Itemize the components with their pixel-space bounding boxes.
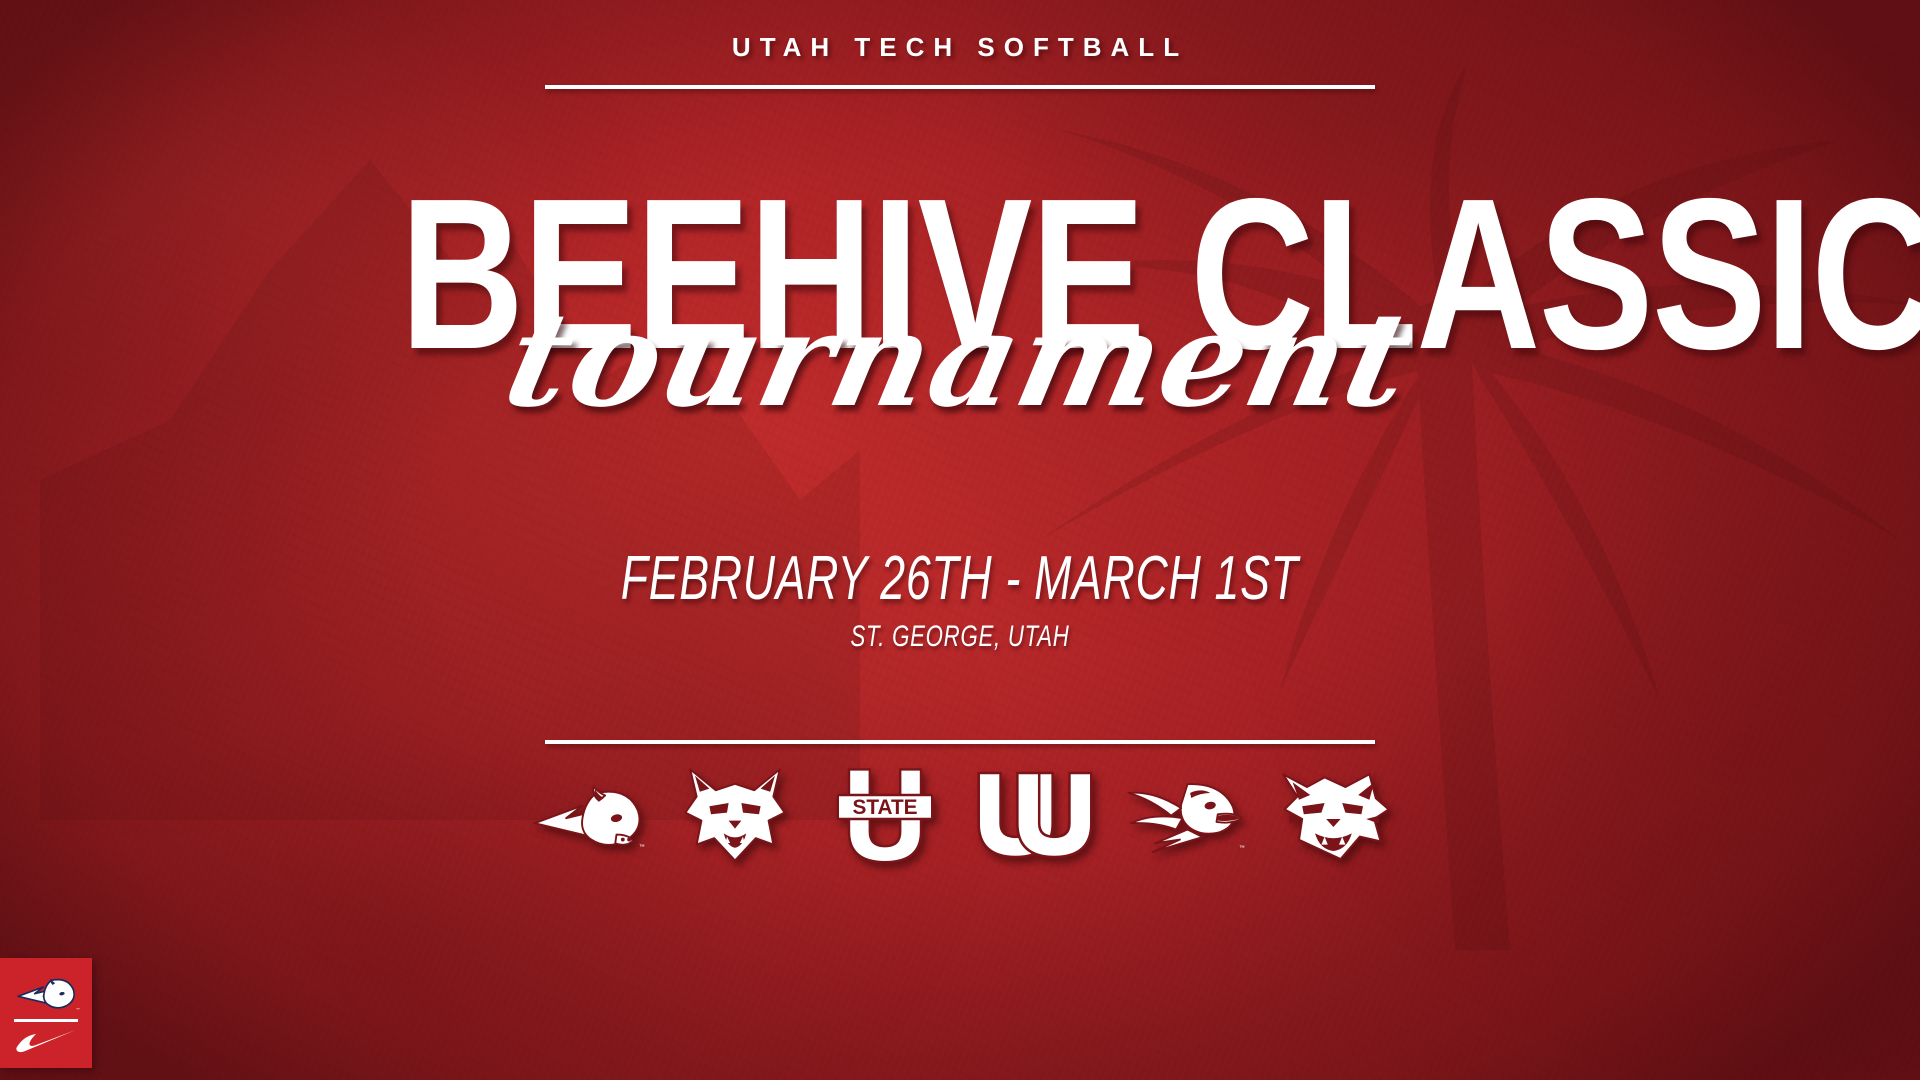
interlocking-uu-icon (972, 763, 1098, 867)
event-location: ST. GEORGE, UTAH (850, 620, 1069, 654)
script-overlay-text: tournament (232, 295, 1688, 425)
utah-state-u-logo: STATE (822, 763, 948, 867)
thunderbird-logo: ™ (1122, 763, 1248, 867)
utah-interlocking-uu-logo (972, 763, 1098, 867)
trailblazer-bison-icon: ™ (12, 973, 80, 1013)
thunderbird-icon: ™ (1122, 763, 1248, 867)
u-state-label: STATE (852, 796, 917, 819)
svg-text:™: ™ (1239, 846, 1245, 852)
team-logo-row: ™ (522, 760, 1398, 870)
sponsor-badge: ™ (0, 958, 92, 1068)
badge-divider (14, 1019, 78, 1022)
u-state-icon: STATE (822, 763, 948, 867)
promo-graphic: UTAH TECH SOFTBALL BEEHIVE CLASSIC tourn… (0, 0, 1920, 1080)
eyebrow-text: UTAH TECH SOFTBALL (732, 32, 1188, 63)
wildcat-head-logo (672, 763, 798, 867)
title-lockup: BEEHIVE CLASSIC tournament (260, 175, 1660, 425)
bison-icon: ™ (522, 763, 648, 867)
tiger-head-logo (1272, 763, 1398, 867)
svg-text:™: ™ (639, 844, 645, 850)
wildcat-icon (672, 763, 798, 867)
rule-top (545, 85, 1375, 89)
event-date: FEBRUARY 26TH - MARCH 1ST (621, 543, 1299, 614)
tiger-icon (1272, 763, 1398, 867)
rule-bottom (545, 740, 1375, 744)
nike-swoosh-icon (13, 1028, 79, 1054)
svg-text:™: ™ (76, 1007, 80, 1011)
bison-head-logo: ™ (522, 763, 648, 867)
